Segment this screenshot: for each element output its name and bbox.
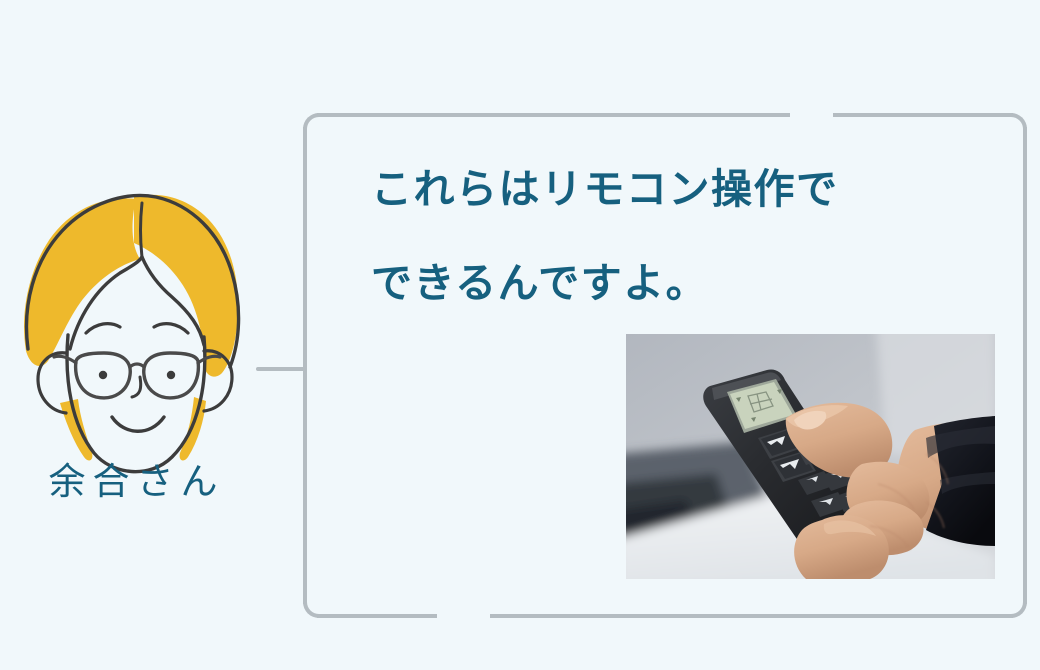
person-face-illustration-icon	[8, 185, 258, 485]
character-name-label: 余合さん	[8, 463, 258, 500]
character-block: 余合さん	[8, 185, 258, 525]
bubble-tail-connector	[256, 367, 306, 371]
bubble-border-top-left	[317, 113, 790, 117]
bubble-corner-bottom-left	[303, 590, 331, 618]
bubble-corner-bottom-right	[999, 590, 1027, 618]
bubble-border-bottom-left	[317, 614, 437, 618]
remote-control-photo	[626, 334, 995, 579]
bubble-corner-top-right	[999, 113, 1027, 141]
speech-line-2: できるんですよ。	[371, 236, 991, 330]
speech-bubble: これらはリモコン操作で できるんですよ。	[303, 113, 1027, 618]
bubble-border-top-right	[833, 113, 1013, 117]
bubble-border-left	[303, 127, 307, 604]
bubble-corner-top-left	[303, 113, 331, 141]
speech-bubble-text: これらはリモコン操作で できるんですよ。	[371, 142, 991, 330]
bubble-border-bottom-right	[490, 614, 1013, 618]
slide-canvas: 余合さん これらはリモコン操作で できるんですよ。	[0, 0, 1040, 670]
speech-line-1: これらはリモコン操作で	[371, 142, 991, 236]
bubble-border-right	[1023, 127, 1027, 604]
